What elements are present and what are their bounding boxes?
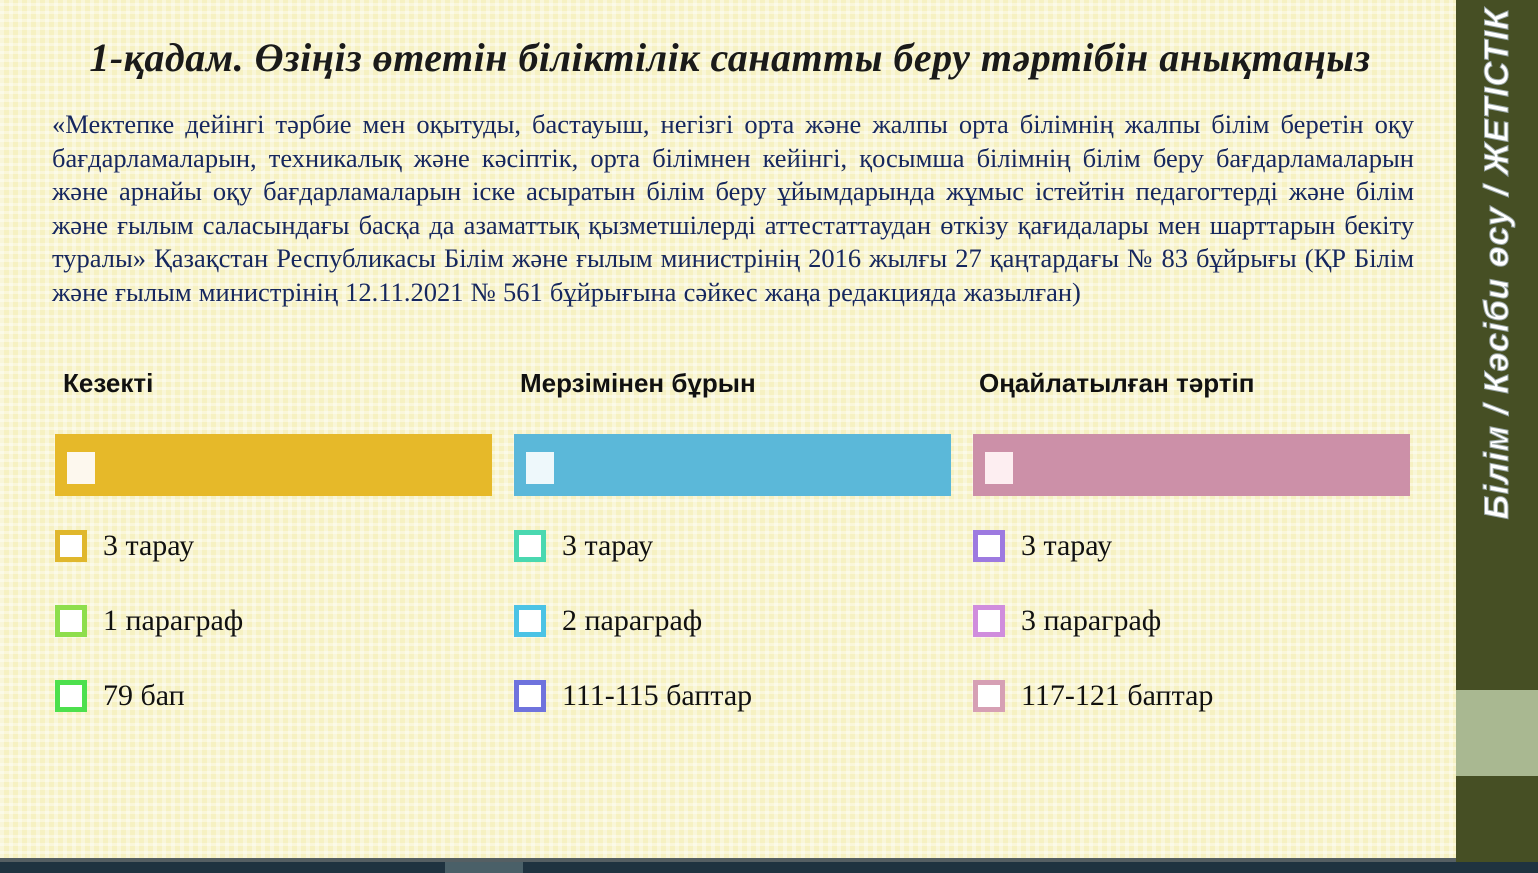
list-item-label: 3 параграф [1021,604,1161,638]
checkbox-icon[interactable] [973,680,1005,712]
column-color-bar [973,434,1410,496]
checkbox-icon[interactable] [514,605,546,637]
list-item[interactable]: 3 параграф [973,597,1410,645]
list-item[interactable]: 1 параграф [55,597,492,645]
list-item[interactable]: 3 тарау [973,522,1410,570]
list-item[interactable]: 3 тарау [55,522,492,570]
list-item[interactable]: 79 бап [55,672,492,720]
list-item[interactable]: 3 тарау [514,522,951,570]
side-panel: Білім / Кәсіби өсу / ЖЕТІСТІК [1456,0,1538,862]
list-item-label: 2 параграф [562,604,702,638]
checkbox-icon[interactable] [514,530,546,562]
column-header: Мерзімінен бұрын [514,368,951,406]
column-header: Кезекті [55,368,492,406]
list-item-label: 3 тарау [1021,529,1112,563]
slide-root: 1-қадам. Өзіңіз өтетін біліктілік санатт… [0,0,1538,873]
page-title: 1-қадам. Өзіңіз өтетін біліктілік санатт… [60,34,1400,82]
column-color-bar [514,434,951,496]
category-columns: Кезекті 3 тарау 1 параграф 79 ба [55,368,1410,747]
checkbox-icon[interactable] [973,530,1005,562]
side-panel-text-wrap: Білім / Кәсіби өсу / ЖЕТІСТІК [1456,8,1538,508]
checkbox-icon[interactable] [55,605,87,637]
column-item-list: 3 тарау 1 параграф 79 бап [55,522,492,720]
checkbox-icon[interactable] [973,605,1005,637]
column-item-list: 3 тарау 3 параграф 117-121 баптар [973,522,1410,720]
column-onailatylgan-tartip: Оңайлатылған тәртіп 3 тарау 3 параграф [973,368,1410,747]
list-item-label: 1 параграф [103,604,243,638]
column-item-list: 3 тарау 2 параграф 111-115 баптар [514,522,951,720]
checkbox-icon[interactable] [514,680,546,712]
column-merzimnen-buryn: Мерзімінен бұрын 3 тарау 2 параграф [514,368,951,747]
horizontal-scrollbar[interactable] [0,862,1538,873]
regulation-paragraph: «Мектепке дейінгі тәрбие мен оқытуды, ба… [52,108,1414,309]
scrollbar-thumb[interactable] [445,862,523,873]
list-item[interactable]: 111-115 баптар [514,672,951,720]
slide-canvas: 1-қадам. Өзіңіз өтетін біліктілік санатт… [0,0,1456,862]
bar-chip [985,452,1013,484]
column-color-bar [55,434,492,496]
checkbox-icon[interactable] [55,530,87,562]
column-kezekti: Кезекті 3 тарау 1 параграф 79 ба [55,368,492,747]
list-item-label: 3 тарау [562,529,653,563]
list-item-label: 117-121 баптар [1021,679,1213,713]
side-panel-slogan: Білім / Кәсіби өсу / ЖЕТІСТІК [1478,8,1517,519]
list-item[interactable]: 2 параграф [514,597,951,645]
side-panel-accent-block [1456,690,1538,776]
list-item-label: 3 тарау [103,529,194,563]
column-header: Оңайлатылған тәртіп [973,368,1410,406]
list-item-label: 79 бап [103,679,185,713]
list-item-label: 111-115 баптар [562,679,752,713]
bar-chip [526,452,554,484]
list-item[interactable]: 117-121 баптар [973,672,1410,720]
checkbox-icon[interactable] [55,680,87,712]
bar-chip [67,452,95,484]
